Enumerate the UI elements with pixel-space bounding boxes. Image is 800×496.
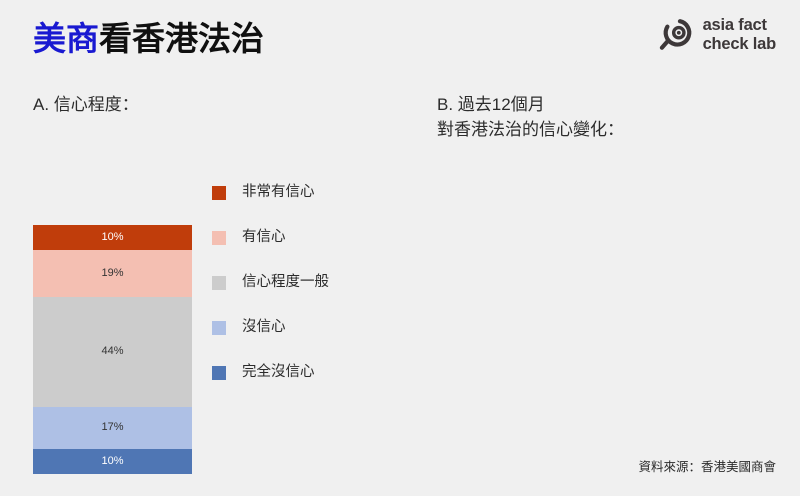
- panel-chart-a: A. 信心程度： 10%19%44%17%10% 非常有信心有信心信心程度一般沒…: [0, 0, 410, 496]
- legend-item-label: 信心程度一般: [242, 275, 329, 290]
- chart-a-legend: 非常有信心有信心信心程度一般沒信心完全沒信心: [212, 170, 329, 395]
- legend-item: 信心程度一般: [212, 260, 329, 305]
- legend-item: 完全沒信心: [212, 350, 329, 395]
- bar-segment-有信心: 19%: [33, 250, 192, 297]
- source-note: 資料來源：香港美國商會: [638, 456, 776, 475]
- legend-swatch-icon: [212, 321, 226, 335]
- legend-swatch-icon: [212, 231, 226, 245]
- chart-a-stacked-bar: 10%19%44%17%10%: [33, 225, 192, 474]
- legend-item: 非常有信心: [212, 170, 329, 215]
- bar-segment-非常有信心: 10%: [33, 225, 192, 250]
- bar-segment-沒信心: 17%: [33, 407, 192, 449]
- bar-segment-value-label: 10%: [101, 232, 123, 243]
- legend-swatch-icon: [212, 276, 226, 290]
- legend-item-label: 沒信心: [242, 320, 286, 335]
- bar-segment-value-label: 17%: [101, 422, 123, 433]
- bar-segment-信心程度一般: 44%: [33, 297, 192, 407]
- bar-segment-value-label: 44%: [101, 346, 123, 357]
- legend-item-label: 完全沒信心: [242, 365, 315, 380]
- legend-item-label: 非常有信心: [242, 185, 315, 200]
- legend-swatch-icon: [212, 186, 226, 200]
- legend-item: 有信心: [212, 215, 329, 260]
- legend-item-label: 有信心: [242, 230, 286, 245]
- legend-swatch-icon: [212, 366, 226, 380]
- chart-b-title: B. 過去12個月 對香港法治的信心變化：: [437, 93, 624, 142]
- bar-segment-value-label: 10%: [101, 456, 123, 467]
- bar-segment-完全沒信心: 10%: [33, 449, 192, 474]
- legend-item: 沒信心: [212, 305, 329, 350]
- panel-chart-b: B. 過去12個月 對香港法治的信心變化： 4%4%37%35%19% 很大改善…: [410, 0, 800, 496]
- bar-segment-value-label: 19%: [101, 268, 123, 279]
- chart-a-title: A. 信心程度：: [33, 93, 139, 118]
